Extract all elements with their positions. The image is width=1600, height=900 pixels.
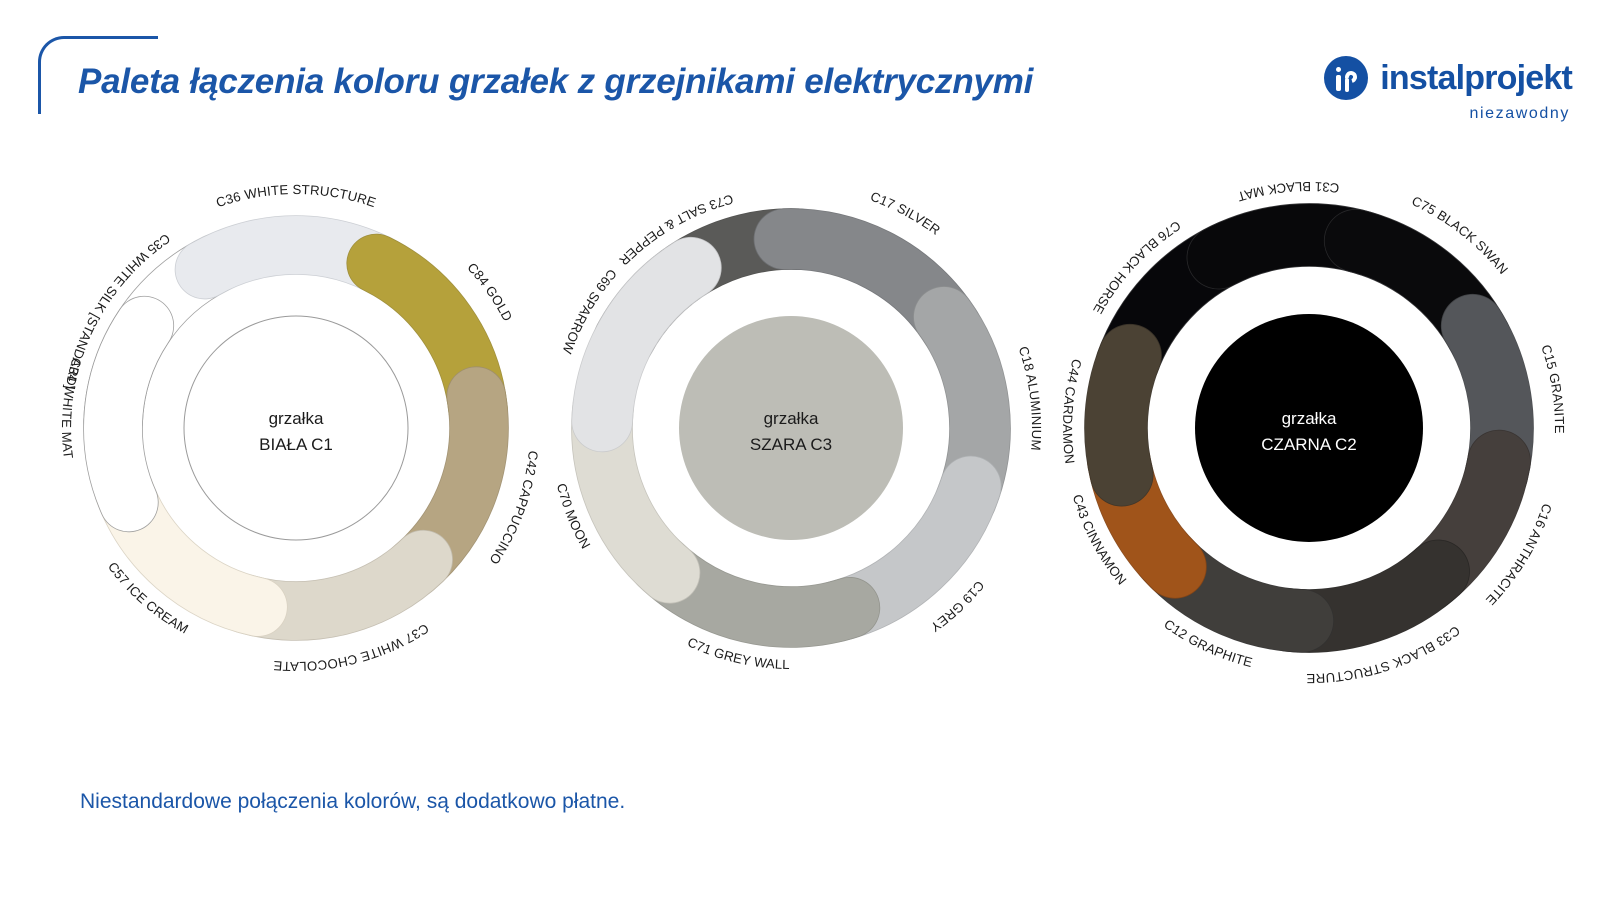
segment-label: C15 GRANITE	[1538, 343, 1567, 434]
segment-label: C18 ALUMINIUM	[1016, 344, 1044, 451]
hub-disc	[679, 316, 903, 540]
hub-label-line1: grzałka	[1282, 409, 1337, 428]
hub-label-line2: BIAŁA C1	[259, 435, 333, 454]
infographic-page: Paleta łączenia koloru grzałek z grzejni…	[0, 0, 1600, 900]
hub-disc	[1195, 314, 1423, 542]
brand-logo: instalprojekt niezawodny	[1272, 56, 1572, 130]
page-title: Paleta łączenia koloru grzałek z grzejni…	[78, 62, 1033, 102]
donut-chart-1: grzałkaBIAŁA C1C35 WHITE SILK [STANDARD]…	[59, 182, 541, 674]
color-segment[interactable]	[1116, 356, 1130, 475]
logo-tagline: niezawodny	[1272, 105, 1570, 123]
logo-wordmark: instalprojekt	[1380, 61, 1572, 95]
hub-label-line2: CZARNA C2	[1261, 435, 1356, 454]
hub-label-line1: grzałka	[764, 409, 819, 428]
segment-label: C34 WHITE MAT	[59, 356, 85, 460]
hub-label-line2: SZARA C3	[750, 435, 832, 454]
segment-label: C36 WHITE STRUCTURE	[214, 182, 378, 210]
segment-label: C44 CARDAMON	[1060, 357, 1085, 464]
segment-label: C31 BLACK MAT	[1236, 179, 1340, 204]
footnote: Niestandardowe połączenia kolorów, są do…	[80, 790, 625, 814]
color-segment[interactable]	[602, 268, 691, 422]
donut-chart-2: grzałkaSZARA C3C73 SALT & PEPPERC17 SILV…	[554, 189, 1044, 672]
donut-chart-3: grzałkaCZARNA C2C76 BLACK HORSEC31 BLACK…	[1060, 179, 1567, 686]
ip-circle-icon	[1324, 56, 1368, 100]
color-segment[interactable]	[113, 326, 144, 503]
hub-disc	[184, 316, 408, 540]
color-palette-wheels: grzałkaBIAŁA C1C35 WHITE SILK [STANDARD]…	[0, 150, 1600, 710]
hub-label-line1: grzałka	[269, 409, 324, 428]
color-wheels-container: grzałkaBIAŁA C1C35 WHITE SILK [STANDARD]…	[0, 150, 1600, 710]
